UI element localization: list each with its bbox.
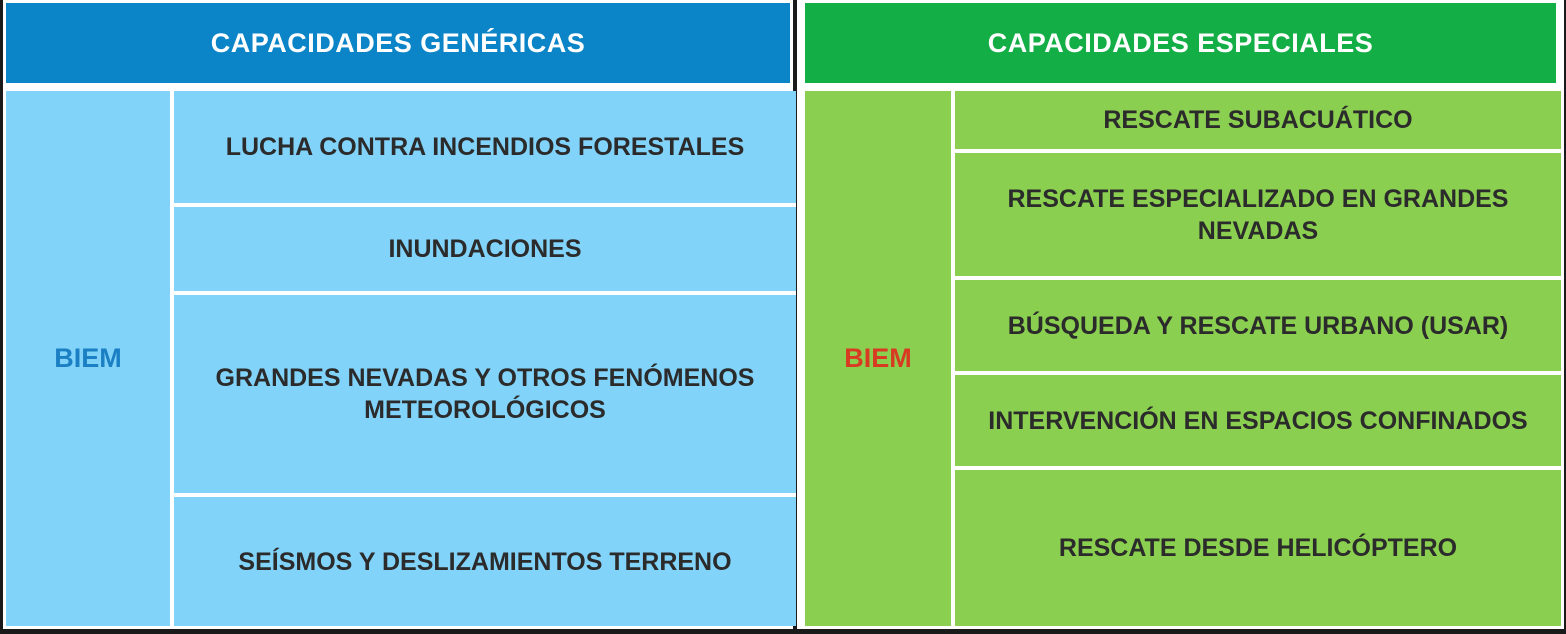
rows-capacidades-genericas: LUCHA CONTRA INCENDIOS FORESTALES INUNDA… [174,91,796,626]
table-row: INUNDACIONES [174,207,796,295]
table-row: RESCATE DESDE HELICÓPTERO [955,470,1561,626]
table-row: RESCATE SUBACUÁTICO [955,91,1561,153]
table-capacidades-especiales: BIEM RESCATE SUBACUÁTICO RESCATE ESPECIA… [805,91,1561,626]
header-capacidades-especiales: CAPACIDADES ESPECIALES [805,3,1556,83]
rows-capacidades-especiales: RESCATE SUBACUÁTICO RESCATE ESPECIALIZAD… [955,91,1561,626]
table-row: SEÍSMOS Y DESLIZAMIENTOS TERRENO [174,497,796,626]
table-row: GRANDES NEVADAS Y OTROS FENÓMENOS METEOR… [174,295,796,497]
table-row: RESCATE ESPECIALIZADO EN GRANDES NEVADAS [955,153,1561,280]
panel-capacidades-especiales: CAPACIDADES ESPECIALES BIEM RESCATE SUBA… [797,0,1564,634]
table-row: INTERVENCIÓN EN ESPACIOS CONFINADOS [955,375,1561,470]
panel-capacidades-genericas: CAPACIDADES GENÉRICAS BIEM LUCHA CONTRA … [3,0,793,634]
header-capacidades-genericas: CAPACIDADES GENÉRICAS [6,3,790,83]
capabilities-comparison-board: CAPACIDADES GENÉRICAS BIEM LUCHA CONTRA … [0,0,1566,634]
table-row: LUCHA CONTRA INCENDIOS FORESTALES [174,91,796,207]
table-capacidades-genericas: BIEM LUCHA CONTRA INCENDIOS FORESTALES I… [6,91,796,626]
table-row: BÚSQUEDA Y RESCATE URBANO (USAR) [955,280,1561,375]
unit-label-biem-especiales: BIEM [805,91,955,626]
unit-label-biem-genericas: BIEM [6,91,174,626]
